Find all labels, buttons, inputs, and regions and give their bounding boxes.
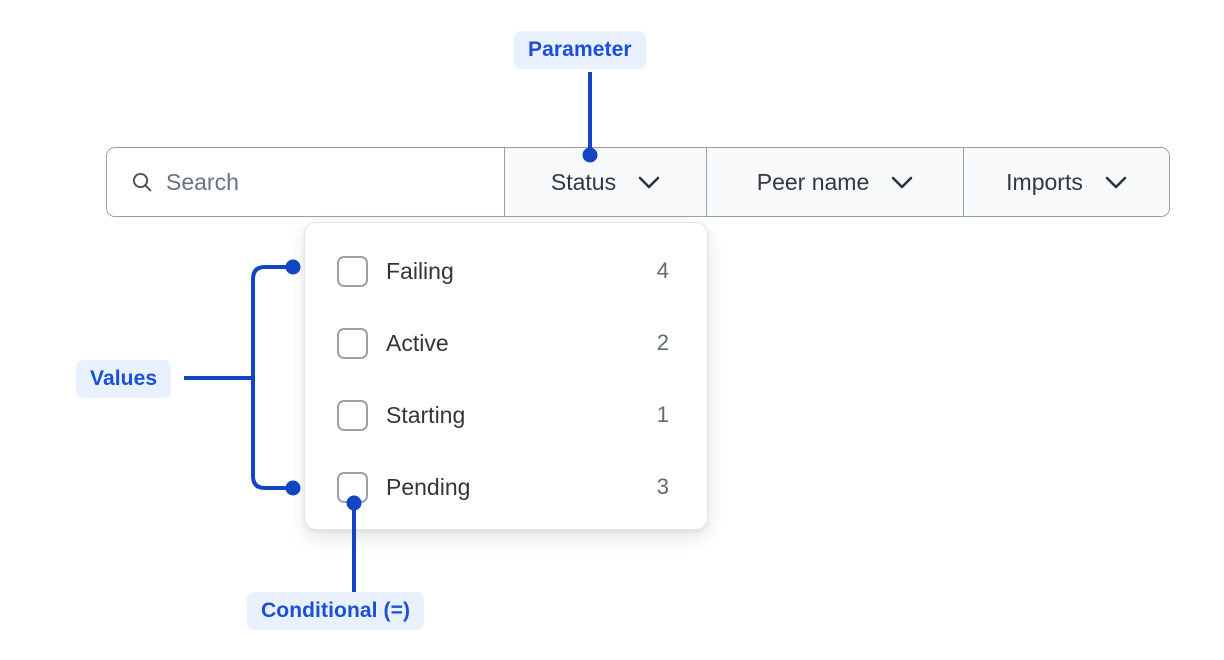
dropdown-option-pending[interactable]: Pending 3 — [305, 463, 707, 511]
filter-tab-peer-name[interactable]: Peer name — [707, 148, 964, 216]
screenshot-root: Parameter Values Conditional (=) Status … — [0, 0, 1224, 660]
filter-bar: Status Peer name Imports — [106, 147, 1170, 217]
search-input[interactable] — [166, 148, 504, 216]
dropdown-option-pending-count: 3 — [657, 474, 669, 500]
values-top-dot — [286, 260, 301, 275]
status-filter-dropdown: Failing 4 Active 2 Starting 1 Pending 3 — [304, 222, 708, 530]
dropdown-option-pending-label: Pending — [386, 474, 657, 501]
chevron-down-icon — [891, 176, 913, 189]
filter-tab-imports[interactable]: Imports — [964, 148, 1169, 216]
search-icon — [130, 170, 154, 194]
checkbox-failing[interactable] — [337, 256, 368, 287]
checkbox-pending[interactable] — [337, 472, 368, 503]
chevron-down-icon — [1105, 176, 1127, 189]
dropdown-option-failing-label: Failing — [386, 258, 657, 285]
dropdown-option-failing-count: 4 — [657, 258, 669, 284]
dropdown-option-starting[interactable]: Starting 1 — [305, 391, 707, 439]
annotation-badge-values: Values — [76, 360, 171, 398]
checkbox-starting[interactable] — [337, 400, 368, 431]
dropdown-option-failing[interactable]: Failing 4 — [305, 247, 707, 295]
chevron-down-icon — [638, 176, 660, 189]
dropdown-option-active[interactable]: Active 2 — [305, 319, 707, 367]
filter-tab-peer-name-label: Peer name — [757, 169, 870, 196]
filter-tab-imports-label: Imports — [1006, 169, 1083, 196]
filter-tab-status-label: Status — [551, 169, 616, 196]
dropdown-option-active-label: Active — [386, 330, 657, 357]
filter-tab-status[interactable]: Status — [505, 148, 707, 216]
checkbox-active[interactable] — [337, 328, 368, 359]
values-bracket — [253, 267, 291, 488]
search-field[interactable] — [107, 148, 505, 216]
annotation-badge-parameter: Parameter — [514, 31, 646, 69]
dropdown-option-starting-label: Starting — [386, 402, 657, 429]
values-bottom-dot — [286, 481, 301, 496]
dropdown-option-starting-count: 1 — [657, 402, 669, 428]
dropdown-option-active-count: 2 — [657, 330, 669, 356]
annotation-badge-conditional: Conditional (=) — [247, 592, 424, 630]
